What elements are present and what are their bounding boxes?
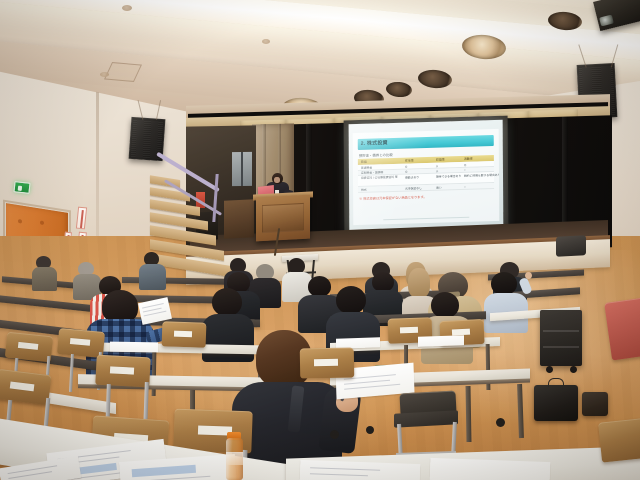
caster-icon	[330, 430, 339, 439]
caster-icon	[366, 426, 374, 434]
slide-th: 収益性	[436, 157, 445, 161]
chair[interactable]	[95, 355, 150, 388]
projection-screen: 2. 株式投資 預貯金・債券との比較 商品 安全性 収益性 流動性 普通預金 ◎…	[349, 120, 504, 235]
ceiling-vent-icon	[122, 5, 132, 11]
slide-title: 2. 株式投資	[361, 139, 388, 147]
audience-hand	[525, 272, 532, 279]
slide-cell: 値動きあり	[405, 175, 419, 179]
slide-cell: 元本保証なし	[405, 186, 422, 190]
handout-paper[interactable]	[418, 335, 464, 347]
slide-cell: 株式	[361, 187, 367, 191]
slide-cell: 高い	[436, 185, 442, 189]
slide-cell: ◎	[405, 170, 407, 174]
slide-cell: 定期預金・国債等	[361, 170, 383, 175]
shoulder-bag[interactable]	[582, 392, 608, 416]
slide-cell: ◎	[405, 164, 407, 168]
lecture-hall-photo: 2. 株式投資 預貯金・債券との比較 商品 安全性 収益性 流動性 普通預金 ◎…	[0, 0, 640, 480]
slide-cell: ◎	[464, 162, 466, 166]
slide-cell: 投資信託 / 公社債投資信託 等	[361, 175, 403, 179]
cabinet-caster-icon	[570, 366, 577, 373]
caster-icon	[496, 418, 505, 427]
slide-cell: ○	[464, 184, 466, 188]
chair[interactable]	[162, 321, 207, 348]
slide-table: 商品 安全性 収益性 流動性 普通預金 ◎ △ ◎ 定期預金・国債等 ◎ △ ○	[358, 155, 494, 193]
slide-th: 安全性	[405, 158, 414, 162]
stage-side-equipment	[556, 235, 586, 257]
cabinet-shelf-line	[543, 330, 579, 332]
equipment-cabinet	[540, 310, 582, 366]
slide-cell: △	[436, 163, 438, 167]
slide-cell: △	[436, 169, 438, 173]
chair[interactable]	[598, 417, 640, 462]
backstage-window-mullion	[241, 152, 243, 186]
presentation-slide: 2. 株式投資 預貯金・債券との比較 商品 安全性 収益性 流動性 普通預金 ◎…	[353, 129, 500, 225]
presenter-face	[274, 177, 280, 183]
slide-cell: 解約に時間を要する場合あり	[464, 172, 499, 177]
exit-sign-icon	[13, 181, 30, 194]
handout-paper-foreground[interactable]	[430, 458, 551, 480]
ceiling-vent-icon	[262, 39, 270, 44]
bag-handle	[548, 378, 564, 387]
slide-subtitle: 預貯金・債券との比較	[359, 152, 393, 158]
desk-leg	[466, 386, 472, 442]
briefcase-bag[interactable]	[534, 385, 578, 421]
chair[interactable]	[5, 332, 53, 363]
cabinet-shelf-line	[543, 346, 579, 348]
slide-footer-rule	[383, 217, 469, 220]
ceiling-vent-icon	[100, 72, 109, 77]
handout-paper[interactable]	[110, 342, 158, 353]
bottle-label	[226, 452, 243, 465]
slide-cell: 期待できる場合あり	[436, 174, 461, 179]
handout-paper-foreground[interactable]	[300, 460, 421, 480]
cabinet-caster-icon	[546, 366, 553, 373]
chair[interactable]	[57, 328, 105, 358]
slide-note: ※ 株式投資は元本保証がない商品となります。	[359, 194, 426, 201]
chair[interactable]	[300, 348, 355, 379]
slide-cell: 普通預金	[361, 165, 372, 169]
podium-front-panel	[262, 203, 304, 233]
slide-th: 商品	[361, 160, 367, 164]
slide-cell: ○	[464, 168, 466, 172]
slide-th: 流動性	[464, 157, 473, 161]
